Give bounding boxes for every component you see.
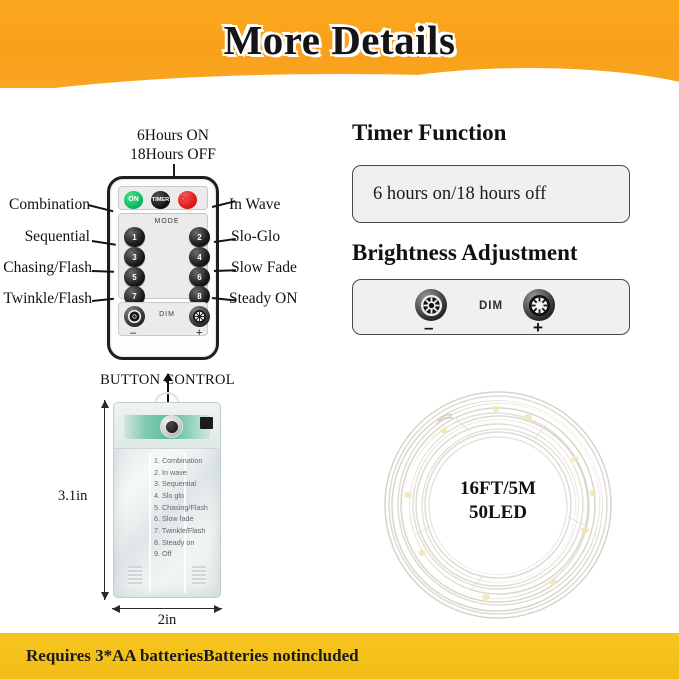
remote-power-panel: ON TIMER OFF [118,186,208,210]
battery-height-label: 3.1in [58,488,87,505]
remote-off-button[interactable]: OFF [178,191,197,209]
leader-line-left-3 [92,270,114,272]
remote-mode-panel: MODE 1 2 3 4 5 6 7 8 [118,213,208,299]
battery-height-dimension-line [104,400,105,600]
mode-label-combination: Combination [0,196,90,214]
battery-box-control-button[interactable] [160,415,183,438]
timer-callout-line1: 6Hours ON [98,126,248,145]
battery-mode-item: 9. Off [154,548,221,560]
coil-led-count: 50LED [378,501,618,525]
coil-length: 16FT/5M [378,477,618,501]
mode-label-slow-fade: Slow Fade [231,259,297,277]
battery-mode-item: 1. Combination [154,455,221,467]
mode-label-twinkle-flash: Twinkle/Flash [0,290,92,308]
dim-minus-sign: – [130,327,136,339]
battery-mode-item: 6. Slow fade [154,513,221,525]
battery-mode-item: 4. Slo glo [154,490,221,502]
remote-timer-button[interactable]: TIMER [151,191,170,209]
mode-label-steady-on: Steady ON [229,290,297,308]
led-wire-coil: 16FT/5M 50LED [378,385,618,625]
brightness-increase-button[interactable] [523,289,555,321]
timer-callout: 6Hours ON 18Hours OFF [98,126,248,165]
battery-box: 1. Combination 2. In wave 3. Sequential … [113,402,221,598]
battery-mode-list: 1. Combination 2. In wave 3. Sequential … [154,455,221,560]
header-wave-decoration [319,68,679,88]
timer-function-box: 6 hours on/18 hours off [352,165,630,223]
brightness-high-icon [528,294,551,317]
battery-box-body: 1. Combination 2. In wave 3. Sequential … [113,402,221,598]
brightness-minus-sign: – [424,318,433,338]
mode-label-in-wave: In Wave [229,196,280,214]
mode-label: MODE [119,218,215,225]
battery-width-dimension-line [112,608,222,609]
battery-mode-item: 2. In wave [154,467,221,479]
remote-button-3[interactable]: 3 [124,247,145,267]
battery-mode-item: 8. Steady on [154,537,221,549]
brightness-low-icon [420,294,443,317]
dim-up-button[interactable] [189,306,210,327]
remote-button-1[interactable]: 1 [124,227,145,247]
mode-label-sequential: Sequential [0,228,90,246]
battery-spring-1 [128,566,142,586]
battery-slot-divider-1 [149,453,151,593]
brightness-decrease-button[interactable] [415,289,447,321]
remote-button-6[interactable]: 6 [189,267,210,287]
remote-on-button[interactable]: ON [124,191,143,209]
battery-spring-2 [192,566,206,586]
timer-callout-line2: 18Hours OFF [98,145,248,164]
remote-control[interactable]: ON TIMER OFF MODE 1 2 3 4 5 6 7 8 [107,176,219,360]
remote-button-2[interactable]: 2 [189,227,210,247]
footer-text: Requires 3*AA batteriesBatteries notincl… [0,646,359,666]
mode-label-slo-glo: Slo-Glo [231,228,280,246]
timer-function-title: Timer Function [352,120,506,146]
brightness-adjustment-title: Brightness Adjustment [352,240,578,266]
remote-button-4[interactable]: 4 [189,247,210,267]
timer-function-value: 6 hours on/18 hours off [353,184,546,205]
brightness-high-icon [192,309,207,324]
dim-plus-sign: + [196,327,202,339]
circuit-chip [200,417,213,429]
brightness-adjustment-box: DIM – + [352,279,630,335]
remote-dim-panel: DIM – + [118,302,208,336]
brightness-plus-sign: + [533,318,543,338]
brightness-dim-label: DIM [463,300,519,312]
battery-mode-item: 7. Twinkle/Flash [154,525,221,537]
battery-mode-item: 5. Chasing/Flash [154,502,221,514]
battery-mode-item: 3. Sequential [154,478,221,490]
coil-spec-label: 16FT/5M 50LED [378,477,618,526]
page-title: More Details [0,16,679,64]
battery-width-label: 2in [112,612,222,629]
mode-label-chasing-flash: Chasing/Flash [0,259,92,277]
remote-button-5[interactable]: 5 [124,267,145,287]
footer-banner: Requires 3*AA batteriesBatteries notincl… [0,633,679,679]
